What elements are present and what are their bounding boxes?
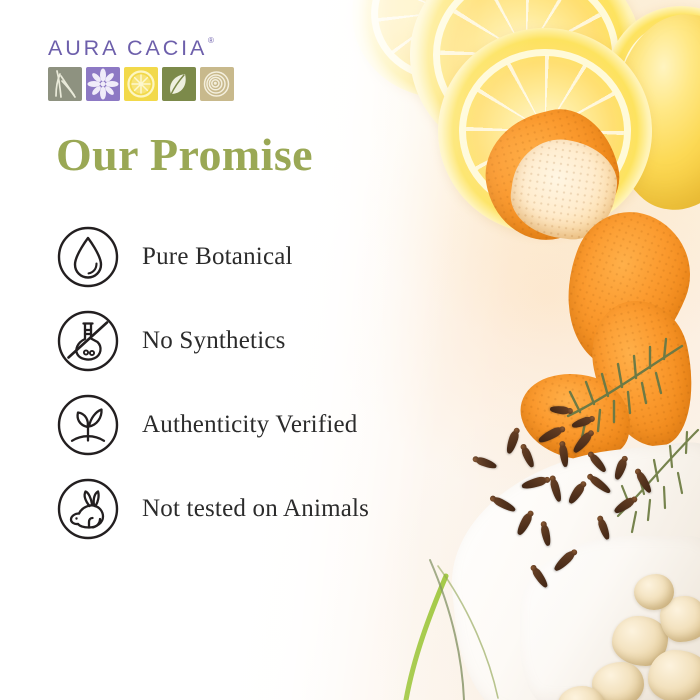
list-item: Pure Botanical bbox=[56, 215, 486, 299]
brand-wordmark-text: AURA CACIA bbox=[48, 36, 207, 60]
content-layer: AURA CACIA® bbox=[0, 0, 700, 700]
list-item: Not tested on Animals bbox=[56, 467, 486, 551]
citrus-tile bbox=[124, 67, 158, 101]
brand-logo: AURA CACIA® bbox=[48, 38, 254, 101]
list-item: No Synthetics bbox=[56, 299, 486, 383]
no-flask-icon bbox=[56, 309, 120, 373]
flower-tile bbox=[86, 67, 120, 101]
woodrings-tile bbox=[200, 67, 234, 101]
registered-trademark-symbol: ® bbox=[208, 37, 214, 45]
page-title: Our Promise bbox=[56, 130, 313, 181]
rabbit-icon bbox=[56, 477, 120, 541]
brand-icon-tiles bbox=[48, 67, 254, 101]
brand-wordmark: AURA CACIA® bbox=[48, 38, 254, 60]
list-item-label: Pure Botanical bbox=[142, 243, 293, 271]
droplet-icon bbox=[56, 225, 120, 289]
list-item: Authenticity Verified bbox=[56, 383, 486, 467]
roots-tile bbox=[48, 67, 82, 101]
list-item-label: Authenticity Verified bbox=[142, 411, 358, 439]
list-item-label: Not tested on Animals bbox=[142, 495, 369, 523]
promise-list: Pure Botanical bbox=[56, 215, 486, 551]
promo-graphic: AURA CACIA® bbox=[0, 0, 700, 700]
leaf-tile bbox=[162, 67, 196, 101]
sprout-icon bbox=[56, 393, 120, 457]
list-item-label: No Synthetics bbox=[142, 327, 286, 355]
